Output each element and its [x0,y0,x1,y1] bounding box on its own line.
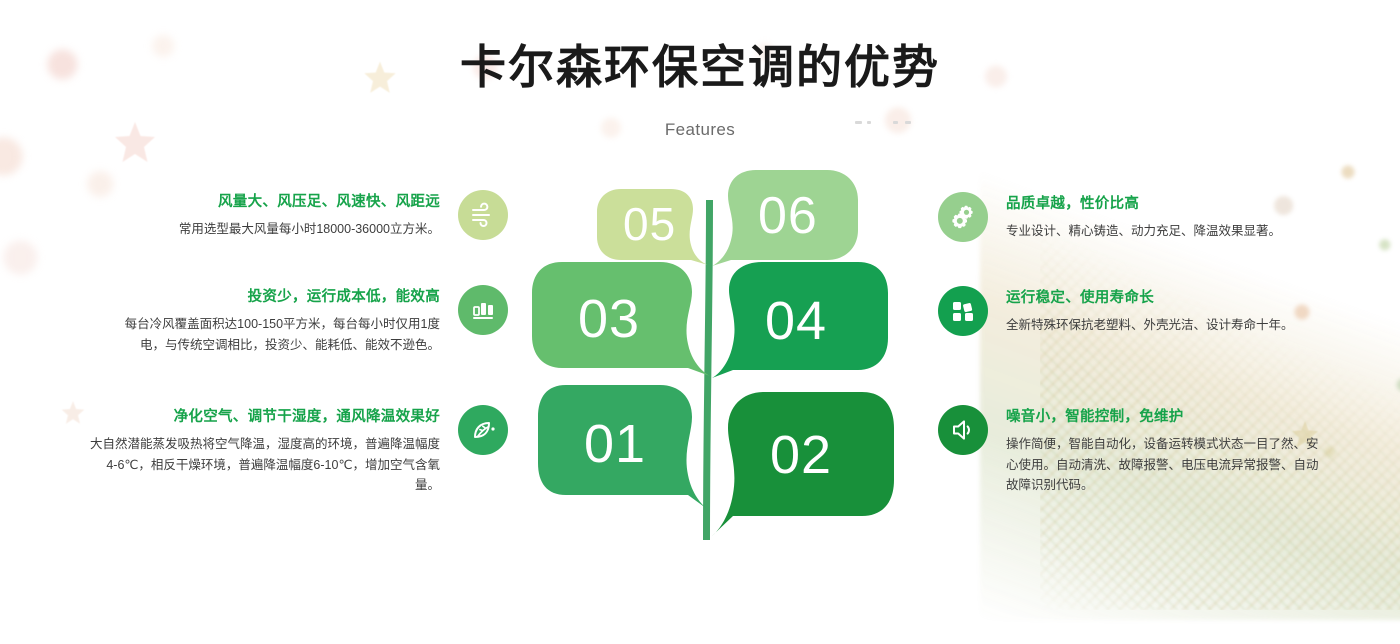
feature-body-01: 大自然潜能蒸发吸热将空气降温，湿度高的环境，普遍降温幅度4-6℃，相反干燥环境，… [88,434,440,496]
feature-text-01: 净化空气、调节干湿度，通风降温效果好 大自然潜能蒸发吸热将空气降温，湿度高的环境… [88,405,458,496]
feature-item-01[interactable]: 净化空气、调节干湿度，通风降温效果好 大自然潜能蒸发吸热将空气降温，湿度高的环境… [88,405,508,496]
feature-text-02: 噪音小，智能控制，免维护 操作简便，智能自动化，设备运转模式状态一目了然、安心使… [988,405,1326,496]
feature-body-02: 操作简便，智能自动化，设备运转模式状态一目了然、安心使用。自动清洗、故障报警、电… [1006,434,1326,496]
leaf-04[interactable]: 04 [710,260,890,380]
speaker-icon [938,405,988,455]
background-texture-right [980,60,1400,620]
feature-body-04: 全新特殊环保抗老塑料、外壳光洁、设计寿命十年。 [1006,315,1326,336]
feature-heading-05: 风量大、风压足、风速快、风距远 [100,190,440,211]
leaf-label-06: 06 [758,186,818,246]
leaf-01[interactable]: 01 [536,383,712,513]
wind-icon [458,190,508,240]
page-subtitle: Features [0,120,1400,140]
feature-text-03: 投资少，运行成本低，能效高 每台冷风覆盖面积达100-150平方米，每台每小时仅… [100,285,458,355]
feature-heading-06: 品质卓越，性价比高 [1006,192,1326,213]
leaf-diagram: 05 06 03 04 01 [520,160,900,560]
feature-item-04[interactable]: 运行稳定、使用寿命长 全新特殊环保抗老塑料、外壳光洁、设计寿命十年。 [938,286,1326,336]
leaf-label-05: 05 [623,197,676,251]
feature-body-03: 每台冷风覆盖面积达100-150平方米，每台每小时仅用1度电，与传统空调相比，投… [100,314,440,355]
gears-icon [938,192,988,242]
star-decoration-4 [60,400,86,426]
decorative-dashes [855,118,935,128]
feature-text-05: 风量大、风压足、风速快、风距远 常用选型最大风量每小时18000-36000立方… [100,190,458,240]
leaf-06[interactable]: 06 [710,168,860,268]
feature-body-06: 专业设计、精心铸造、动力充足、降温效果显著。 [1006,221,1326,242]
feature-heading-02: 噪音小，智能控制，免维护 [1006,405,1326,426]
feature-text-06: 品质卓越，性价比高 专业设计、精心铸造、动力充足、降温效果显著。 [988,192,1326,242]
feature-heading-03: 投资少，运行成本低，能效高 [100,285,440,306]
feature-item-06[interactable]: 品质卓越，性价比高 专业设计、精心铸造、动力充足、降温效果显著。 [938,192,1326,242]
bar-chart-icon [458,285,508,335]
blocks-icon [938,286,988,336]
feature-text-04: 运行稳定、使用寿命长 全新特殊环保抗老塑料、外壳光洁、设计寿命十年。 [988,286,1326,336]
leaf-label-04: 04 [765,290,827,352]
feature-item-03[interactable]: 投资少，运行成本低，能效高 每台冷风覆盖面积达100-150平方米，每台每小时仅… [100,285,508,355]
feature-body-05: 常用选型最大风量每小时18000-36000立方米。 [100,219,440,240]
header: 卡尔森环保空调的优势 Features [0,0,1400,140]
slide-canvas: 卡尔森环保空调的优势 Features 风量大、风压足、风速快、风距远 常用选型… [0,0,1400,644]
leaf-label-02: 02 [770,424,832,486]
feature-item-02[interactable]: 噪音小，智能控制，免维护 操作简便，智能自动化，设备运转模式状态一目了然、安心使… [938,405,1326,496]
feature-item-05[interactable]: 风量大、风压足、风速快、风距远 常用选型最大风量每小时18000-36000立方… [100,190,508,240]
leaf-02[interactable]: 02 [710,388,896,538]
leaf-05[interactable]: 05 [595,187,710,267]
feature-heading-01: 净化空气、调节干湿度，通风降温效果好 [88,405,440,426]
leaf-label-03: 03 [578,288,640,350]
leaf-03[interactable]: 03 [530,260,712,378]
page-title: 卡尔森环保空调的优势 [0,44,1400,90]
feature-heading-04: 运行稳定、使用寿命长 [1006,286,1326,307]
leaf-label-01: 01 [584,413,646,475]
eco-leaf-icon [458,405,508,455]
